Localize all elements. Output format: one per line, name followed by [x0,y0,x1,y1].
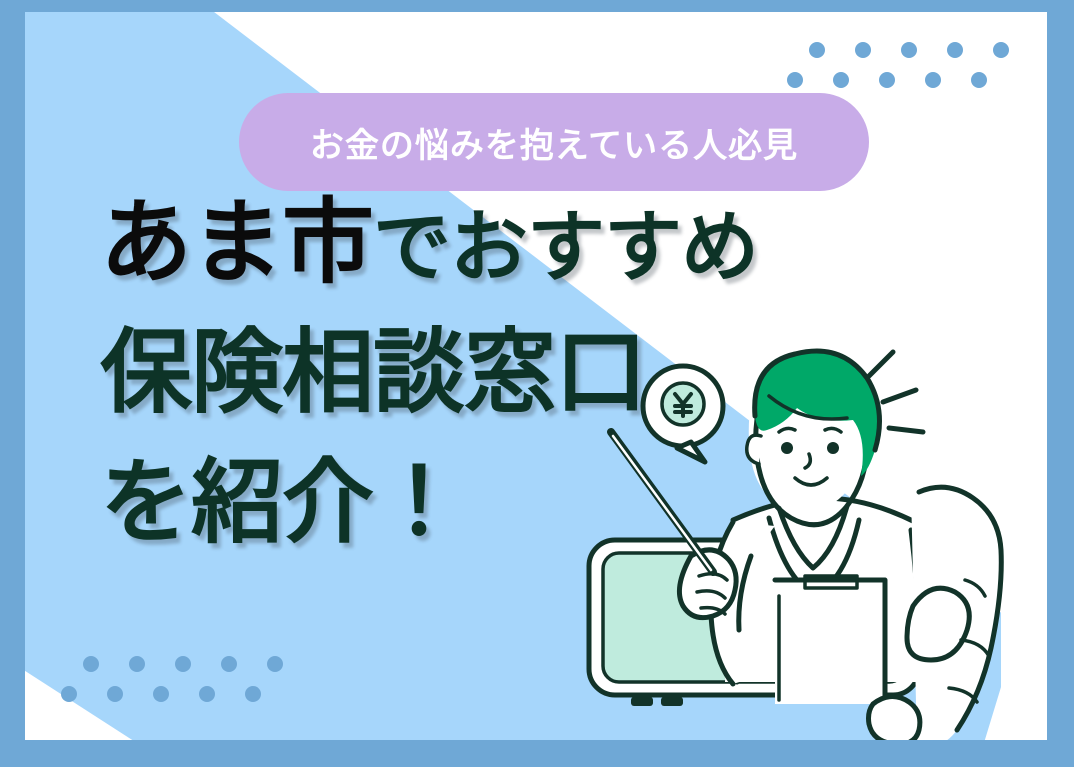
dot [83,656,99,672]
decorative-dot-grid-bottom-left [61,656,283,702]
dot [993,42,1009,58]
dot [809,42,825,58]
dot [221,656,237,672]
dot-row [61,686,283,702]
headline-line-1: あま市 でおすすめ [100,197,920,289]
dot [947,42,963,58]
dot [267,656,283,672]
dot [901,42,917,58]
dot-row [809,42,1009,58]
dot [61,686,77,702]
illustration-woman-smartphone: .ol{fill:none;stroke:#123329;stroke-widt… [583,344,1047,740]
dot [245,686,261,702]
dot [787,72,803,88]
dot [879,72,895,88]
dot [107,686,123,702]
banner-inner-canvas: お金の悩みを抱えている人必見 あま市 でおすすめ 保険相談窓口 を紹介！ .ol… [25,12,1047,740]
dot-row [83,656,283,672]
catchphrase-badge-label: お金の悩みを抱えている人必見 [310,118,798,167]
headline-line-1-suffix: でおすすめ [373,208,758,286]
dot [175,656,191,672]
catchphrase-badge: お金の悩みを抱えている人必見 [239,93,869,191]
eye-right [827,442,839,454]
dot [153,686,169,702]
dot [129,656,145,672]
dot [199,686,215,702]
headline-line-3-text: を紹介！ [100,457,464,549]
yen-speech-bubble-icon [643,366,723,462]
headline-city-name: あま市 [100,197,373,289]
decorative-dot-grid-top-right [809,42,1009,88]
headline-line-2-text: 保険相談窓口 [100,327,646,419]
dot [925,72,941,88]
dot [971,72,987,88]
dot [855,42,871,58]
banner-root: お金の悩みを抱えている人必見 あま市 でおすすめ 保険相談窓口 を紹介！ .ol… [0,0,1074,767]
dot [833,72,849,88]
eye-left [781,442,793,454]
dot-row [787,72,1009,88]
